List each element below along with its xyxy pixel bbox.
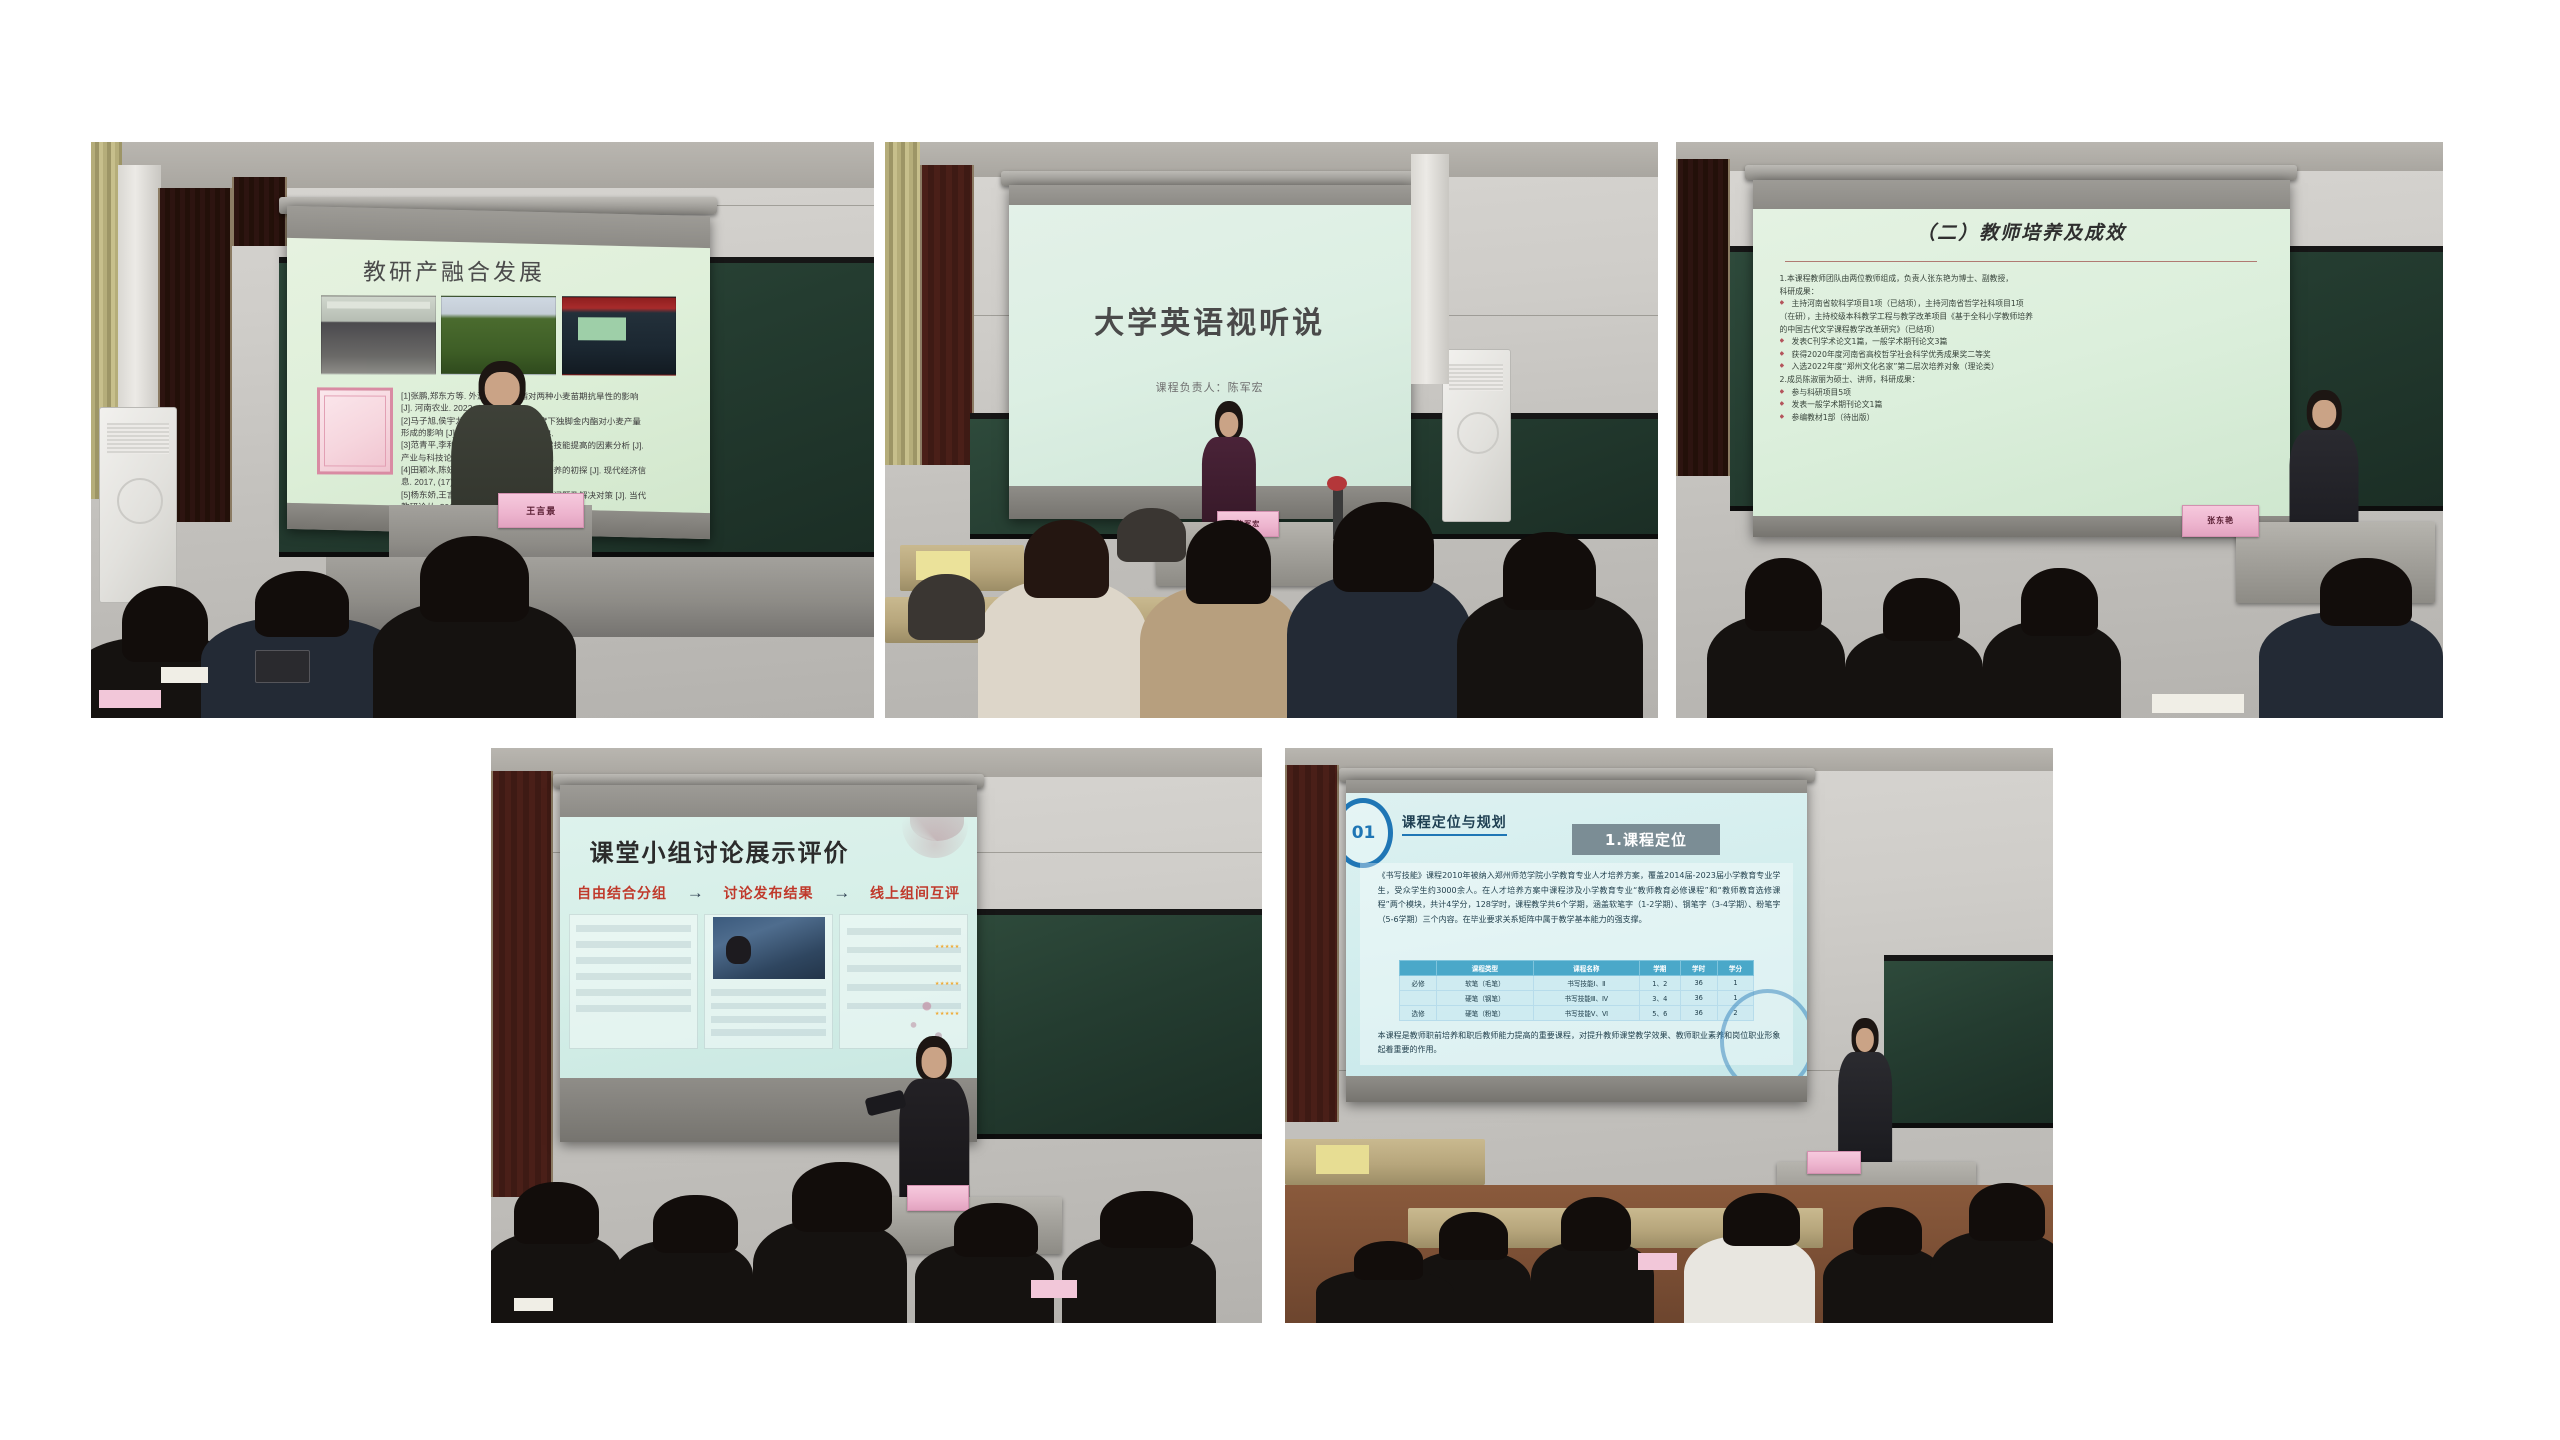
slide-1-image-group-photo <box>321 296 436 376</box>
classroom-discussion-photo <box>713 917 825 978</box>
table-cell: 1、2 <box>1639 975 1680 990</box>
mock-row <box>576 1005 691 1012</box>
table-cell: 硬笔（钢笔） <box>1437 990 1534 1005</box>
slide-3-bullet: 参与科研项目5项 <box>1780 387 2269 400</box>
badge-number: 01 <box>1352 823 1376 843</box>
slide-5: 01 课程定位与规划 1.课程定位 《书写技能》课程2010年被纳入郑州师范学院… <box>1346 793 1807 1076</box>
slide-2-subtitle: 课程负责人：陈军宏 <box>1009 379 1411 395</box>
audience-shoulders <box>1707 616 1845 718</box>
audience-shoulders <box>1823 1246 1946 1323</box>
audience-head <box>514 1182 599 1244</box>
audience-head <box>1333 502 1433 592</box>
photo-5: 01 课程定位与规划 1.课程定位 《书写技能》课程2010年被纳入郑州师范学院… <box>1285 748 2053 1323</box>
wood-wall-panel <box>1676 159 1730 476</box>
audience-head <box>1883 578 1960 641</box>
slide-3-title: （二）教师培养及成效 <box>1753 218 2290 245</box>
slide-2-title: 大学英语视听说 <box>1009 298 1411 342</box>
photo-4: 课堂小组讨论展示评价 自由结合分组 → 讨论发布结果 → 线上组间互评 <box>491 748 1262 1323</box>
table-cell: 3、4 <box>1639 990 1680 1005</box>
audience-3 <box>1676 476 2443 718</box>
chalkboard <box>969 909 1262 1139</box>
audience-head <box>1100 1191 1193 1249</box>
photo-2: 大学英语视听说 课程负责人：陈军宏 陈军宏 <box>885 142 1658 718</box>
table-cell: 5、6 <box>1639 1005 1680 1020</box>
audience-head <box>420 536 530 622</box>
mock-row <box>576 989 691 996</box>
audience-5 <box>1285 1082 2053 1324</box>
audience-head <box>1723 1193 1800 1246</box>
audience-shoulders <box>1287 574 1473 718</box>
screen-top-margin <box>1346 780 1807 793</box>
mock-row <box>576 973 691 980</box>
audience-shoulders <box>1930 1231 2053 1323</box>
slide-3-bullet-cont: （在研），主持校级本科教学工程与教学改革项目《基于全科小学教师培养 <box>1780 311 2269 324</box>
audience-head <box>954 1203 1039 1257</box>
audience-shoulders <box>978 580 1148 718</box>
slide-5-paragraph: 《书写技能》课程2010年被纳入郑州师范学院小学教育专业人才培养方案，覆盖201… <box>1378 869 1781 927</box>
presenter-face <box>922 1047 947 1078</box>
table-cell: 书写技能Ⅴ、Ⅵ <box>1533 1005 1639 1020</box>
screen-top-margin <box>1753 180 2290 209</box>
screenshot-discussion-ui <box>704 914 833 1049</box>
mock-row <box>711 1016 826 1023</box>
table-header-cell: 学时 <box>1680 960 1717 975</box>
mock-row <box>576 925 691 932</box>
smartphone[interactable] <box>255 650 310 683</box>
mock-row <box>847 928 962 935</box>
ceiling-strip <box>91 142 874 188</box>
table-cell: 书写技能Ⅲ、Ⅳ <box>1533 990 1639 1005</box>
audience-2 <box>885 418 1658 718</box>
slide-3-bullet: 主持河南省软科学项目1项（已结项），主持河南省哲学社科项目1项 <box>1780 298 2269 311</box>
audience-head <box>1745 558 1822 631</box>
audience-shoulders <box>2259 612 2443 718</box>
audience-shoulders <box>1062 1236 1216 1323</box>
audience-head <box>908 574 985 640</box>
slide-3: （二）教师培养及成效 1.本课程教师团队由两位教师组成，负责人张东艳为博士、副教… <box>1753 209 2290 516</box>
table-row: 硬笔（钢笔） 书写技能Ⅲ、Ⅳ 3、4 36 1 <box>1400 990 1754 1005</box>
audience-shoulders <box>1140 586 1302 718</box>
audience-head <box>792 1162 892 1232</box>
workflow-step-2: 讨论发布结果 <box>724 883 814 903</box>
screenshot-grouping-ui <box>569 914 698 1049</box>
rating-stars-icon: ★★★★★ <box>935 981 960 987</box>
mock-row <box>711 989 826 996</box>
slide-3-bullet: 发表一般学术期刊论文1篇 <box>1780 399 2269 412</box>
slide-1-image-conference <box>561 296 676 376</box>
slide-3-bullet: 参编教材1部（待出版） <box>1780 412 2269 425</box>
audience-1 <box>91 465 874 718</box>
table-cell <box>1400 990 1437 1005</box>
audience-head <box>653 1195 738 1253</box>
audience-head <box>1354 1241 1423 1280</box>
desk-pink-card <box>99 690 162 708</box>
audience-head <box>1853 1207 1922 1255</box>
presenter-face <box>1856 1028 1874 1053</box>
table-cell: 选修 <box>1400 1005 1437 1020</box>
slide-3-line: 2.成员陈淑丽为硕士、讲师，科研成果： <box>1780 374 2269 387</box>
audience-head <box>1117 508 1187 562</box>
audience-head <box>1969 1183 2046 1241</box>
slide-3-line: 科研成果： <box>1780 286 2269 299</box>
slide-1-title: 教研产融合发展 <box>363 253 545 288</box>
table-cell: 书写技能Ⅰ、Ⅱ <box>1533 975 1639 990</box>
slide-4-workflow: 自由结合分组 → 讨论发布结果 → 线上组间互评 <box>577 883 960 903</box>
desk-pink-card <box>1031 1280 1077 1299</box>
workflow-step-1: 自由结合分组 <box>577 883 667 903</box>
slide-4-title: 课堂小组讨论展示评价 <box>590 833 850 868</box>
table-header-cell: 课程类型 <box>1437 960 1534 975</box>
wood-wall-panel <box>1285 765 1339 1122</box>
projection-screen-5: 01 课程定位与规划 1.课程定位 《书写技能》课程2010年被纳入郑州师范学院… <box>1346 780 1807 1102</box>
audience-shoulders <box>1684 1236 1815 1323</box>
screen-housing <box>1745 165 2297 180</box>
window-curtain <box>885 142 920 465</box>
slide-5-content-card: 《书写技能》课程2010年被纳入郑州师范学院小学教育专业人才培养方案，覆盖201… <box>1360 863 1793 1064</box>
audience-head <box>2320 558 2412 626</box>
photo-collage: 教研产融合发展 [1]张鹏,郑东方等. 外源独脚金内酯对两种小麦苗期抗旱性的影响… <box>0 0 2560 1440</box>
table-cell: 软笔（毛笔） <box>1437 975 1534 990</box>
photo-3: （二）教师培养及成效 1.本课程教师团队由两位教师组成，负责人张东艳为博士、副教… <box>1676 142 2443 718</box>
audience-shoulders <box>1457 592 1643 718</box>
table-cell: 硬笔（粉笔） <box>1437 1005 1534 1020</box>
table-cell: 1 <box>1717 975 1754 990</box>
audience-shoulders <box>1845 631 1983 718</box>
slide-3-line: 1.本课程教师团队由两位教师组成，负责人张东艳为博士、副教授， <box>1780 273 2269 286</box>
slide-5-course-table: 课程类型 课程名称 学期 学时 学分 必修 软笔（毛笔） 书写技 <box>1399 960 1754 1021</box>
audience-head <box>1503 532 1596 610</box>
desk-paper <box>2152 694 2244 713</box>
audience-head <box>255 571 349 637</box>
table-header-cell: 课程名称 <box>1533 960 1639 975</box>
table-cell: 36 <box>1680 975 1717 990</box>
audience-head <box>2021 568 2098 636</box>
slide-1-certificate <box>316 388 392 476</box>
table-header-cell: 学期 <box>1639 960 1680 975</box>
audience-shoulders <box>1531 1241 1654 1323</box>
ceiling-strip <box>491 748 1262 777</box>
arrow-right-icon: → <box>687 883 704 903</box>
mock-row <box>711 1003 826 1010</box>
audience-head <box>1186 520 1271 604</box>
slide-5-section-badge: 01 <box>1346 798 1392 868</box>
photo-1: 教研产融合发展 [1]张鹏,郑东方等. 外源独脚金内酯对两种小麦苗期抗旱性的影响… <box>91 142 874 718</box>
workflow-step-3: 线上组间互评 <box>870 883 960 903</box>
slide-3-bullet: 入选2022年度“郑州文化名家”第二层次培养对象（理论类） <box>1780 361 2269 374</box>
screen-top-margin <box>560 785 976 817</box>
table-header-row: 课程类型 课程名称 学期 学时 学分 <box>1400 960 1754 975</box>
decorative-fan <box>910 817 964 840</box>
table-cell: 必修 <box>1400 975 1437 990</box>
mock-row <box>711 1029 826 1036</box>
slide-3-bullet-cont: 的中国古代文学课程教学改革研究》（已结项） <box>1780 324 2269 337</box>
slide-3-divider <box>1785 261 2257 262</box>
slide-3-body: 1.本课程教师团队由两位教师组成，负责人张东艳为博士、副教授， 科研成果： 主持… <box>1780 273 2269 425</box>
mock-row <box>576 957 691 964</box>
desk-paper <box>514 1298 553 1310</box>
slide-5-heading: 课程定位与规划 <box>1402 812 1507 836</box>
audience-head <box>1439 1212 1508 1260</box>
table-row: 必修 软笔（毛笔） 书写技能Ⅰ、Ⅱ 1、2 36 1 <box>1400 975 1754 990</box>
table-header-cell: 学分 <box>1717 960 1754 975</box>
slide-3-bullet: 获得2020年度河南省高校哲学社会科学优秀成果奖二等奖 <box>1780 349 2269 362</box>
audience-shoulders <box>491 1232 622 1323</box>
audience-shoulders <box>753 1220 907 1324</box>
wall-pillar <box>1411 154 1450 384</box>
audience-head <box>122 586 208 662</box>
screen-top-margin <box>1009 185 1411 205</box>
table-row: 选修 硬笔（粉笔） 书写技能Ⅴ、Ⅵ 5、6 36 2 <box>1400 1005 1754 1020</box>
slide-5-subheading-chip: 1.课程定位 <box>1572 824 1719 855</box>
table-cell: 36 <box>1680 1005 1717 1020</box>
table-cell: 36 <box>1680 990 1717 1005</box>
arrow-right-icon: → <box>833 883 850 903</box>
presenter-face <box>485 372 520 407</box>
audience-head <box>1561 1197 1630 1250</box>
table-header-cell <box>1400 960 1437 975</box>
desk-pink-card <box>1638 1253 1676 1270</box>
screen-housing <box>1001 171 1418 186</box>
audience-head <box>1024 520 1109 598</box>
mock-row <box>847 965 962 972</box>
rating-stars-icon: ★★★★★ <box>935 944 960 950</box>
audience-4 <box>491 1116 1262 1323</box>
desk-paper <box>161 667 208 682</box>
slide-3-bullet: 发表C刊学术论文1篇，一般学术期刊论文3篇 <box>1780 336 2269 349</box>
mock-row <box>576 941 691 948</box>
